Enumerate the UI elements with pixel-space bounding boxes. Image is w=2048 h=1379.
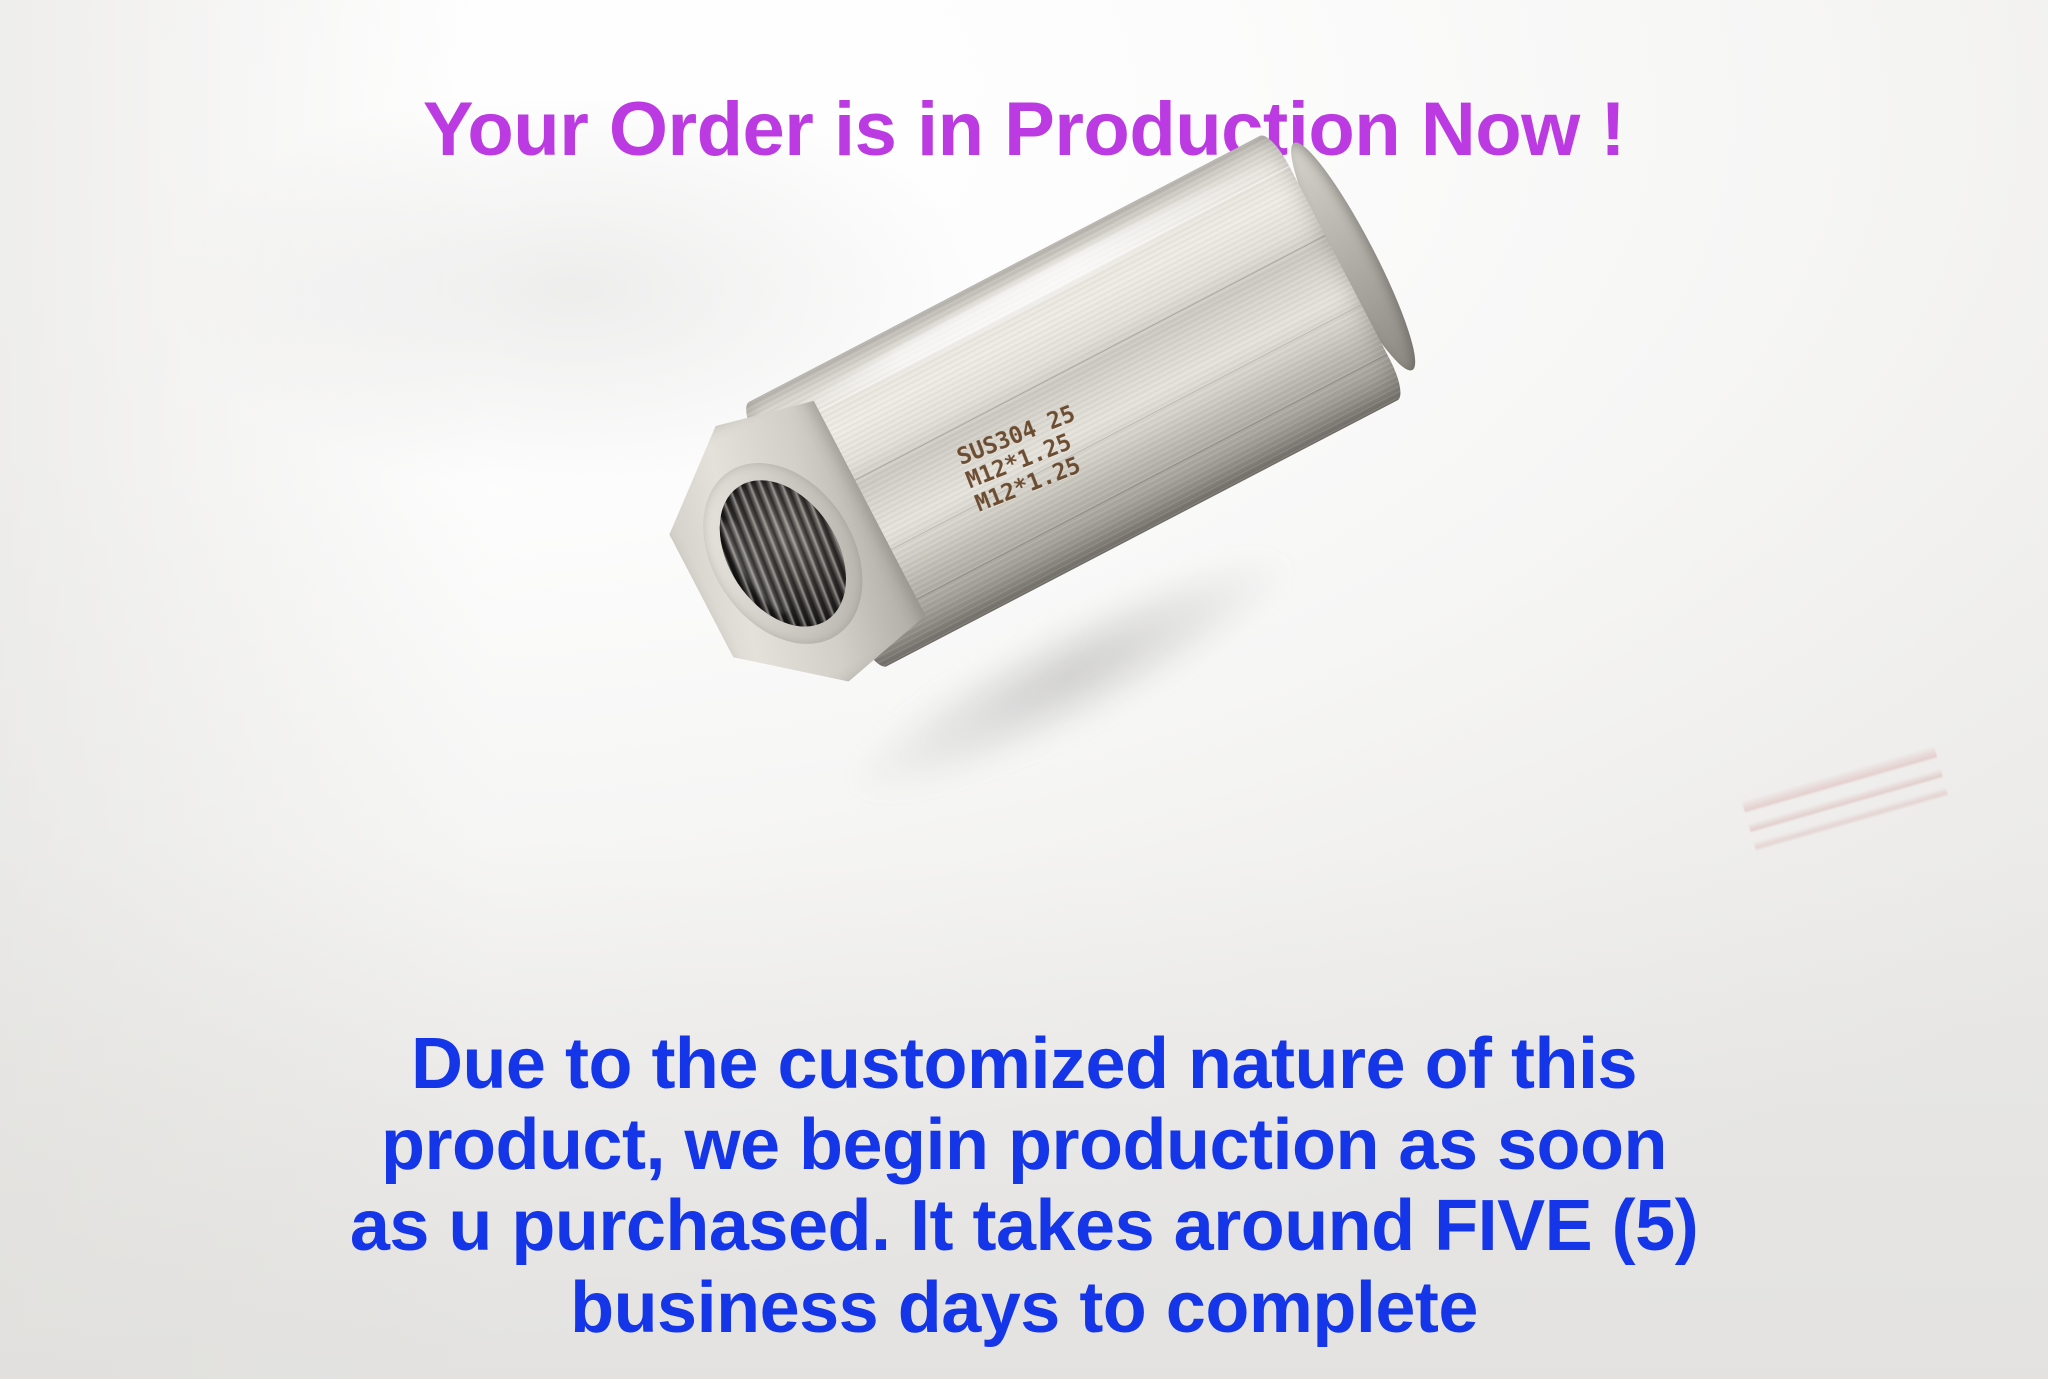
page-title: Your Order is in Production Now ! <box>0 92 2048 168</box>
bore-highlight <box>714 513 800 621</box>
coupling-nut-threaded-bore <box>694 457 872 650</box>
product-photo: SUS304 25 M12*1.25 M12*1.25 <box>690 300 1480 820</box>
notice-line-3: as u purchased. It takes around FIVE (5) <box>0 1186 2048 1267</box>
laser-etched-marking: SUS304 25 M12*1.25 M12*1.25 <box>954 356 1214 517</box>
production-notice: Due to the customized nature of this pro… <box>0 1024 2048 1349</box>
notice-line-1: Due to the customized nature of this <box>0 1024 2048 1105</box>
notice-line-2: product, we begin production as soon <box>0 1105 2048 1186</box>
promo-image: Your Order is in Production Now ! SUS304… <box>0 0 2048 1379</box>
notice-line-4: business days to complete <box>0 1268 2048 1349</box>
